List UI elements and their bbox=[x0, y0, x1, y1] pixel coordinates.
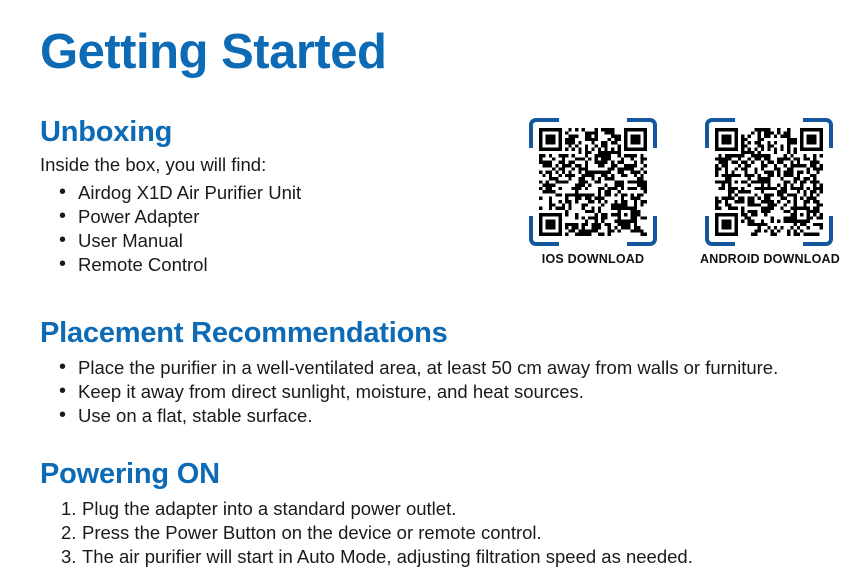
qr-frame-android bbox=[705, 118, 833, 246]
unboxing-item-list: Airdog X1D Air Purifier Unit Power Adapt… bbox=[40, 181, 301, 277]
list-item: Press the Power Button on the device or … bbox=[40, 521, 693, 545]
qr-code-ios[interactable]: IOS DOWNLOAD bbox=[524, 118, 662, 266]
list-item: Remote Control bbox=[40, 253, 301, 277]
qr-code-icon[interactable] bbox=[539, 128, 647, 236]
list-item: Airdog X1D Air Purifier Unit bbox=[40, 181, 301, 205]
powering-step-list: Plug the adapter into a standard power o… bbox=[40, 497, 693, 569]
qr-caption-ios: IOS DOWNLOAD bbox=[524, 252, 662, 266]
list-item: The air purifier will start in Auto Mode… bbox=[40, 545, 693, 569]
qr-frame-ios bbox=[529, 118, 657, 246]
list-item: Keep it away from direct sunlight, moist… bbox=[40, 380, 778, 404]
section-heading-powering-on: Powering ON bbox=[40, 459, 693, 489]
section-heading-placement: Placement Recommendations bbox=[40, 318, 778, 348]
section-unboxing: Unboxing Inside the box, you will find: … bbox=[40, 117, 301, 277]
section-heading-unboxing: Unboxing bbox=[40, 117, 301, 147]
list-item: Power Adapter bbox=[40, 205, 301, 229]
qr-code-group: IOS DOWNLOAD ANDROID DOWNLOAD bbox=[524, 118, 863, 268]
qr-code-android[interactable]: ANDROID DOWNLOAD bbox=[700, 118, 838, 266]
section-placement-recommendations: Placement Recommendations Place the puri… bbox=[40, 318, 778, 428]
list-item: Use on a flat, stable surface. bbox=[40, 404, 778, 428]
list-item: Plug the adapter into a standard power o… bbox=[40, 497, 693, 521]
list-item: User Manual bbox=[40, 229, 301, 253]
placement-item-list: Place the purifier in a well-ventilated … bbox=[40, 356, 778, 428]
qr-code-icon[interactable] bbox=[715, 128, 823, 236]
unboxing-intro-text: Inside the box, you will find: bbox=[40, 153, 301, 177]
list-item: Place the purifier in a well-ventilated … bbox=[40, 356, 778, 380]
document-page: Getting Started Unboxing Inside the box,… bbox=[0, 0, 863, 587]
qr-caption-android: ANDROID DOWNLOAD bbox=[700, 252, 838, 266]
page-title: Getting Started bbox=[40, 28, 386, 77]
section-powering-on: Powering ON Plug the adapter into a stan… bbox=[40, 459, 693, 569]
